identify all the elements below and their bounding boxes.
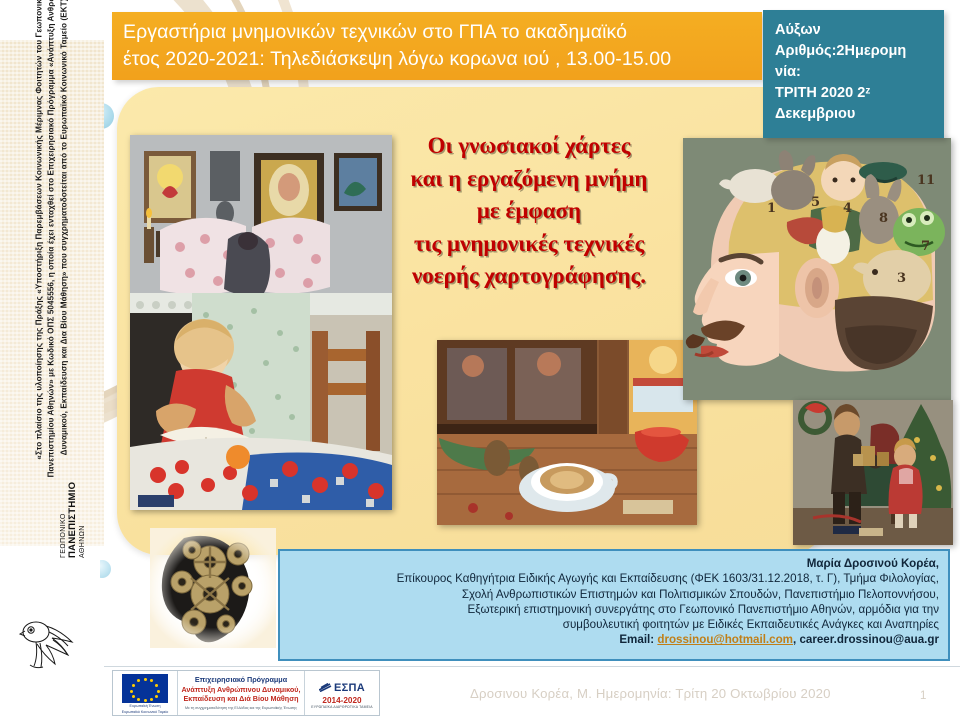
headline-line-5: νοερής χαρτογράφησης. — [364, 260, 694, 293]
date-line-1: Αύξων — [775, 20, 933, 41]
svg-text:1: 1 — [767, 201, 776, 216]
espa-swoosh-icon — [319, 683, 332, 692]
page-number: 1 — [920, 690, 926, 702]
email-secondary: career.drossinou@aua.gr — [799, 633, 939, 646]
eu-caption-line-2: Ευρωπαϊκό Κοινωνικό Ταμείο — [122, 710, 169, 715]
svg-text:11: 11 — [917, 173, 935, 188]
presenter-line-4: Εξωτερική επιστημονική συνεργάτης στο Γε… — [289, 602, 939, 617]
university-logo-words: ΓΕΩΠΟΝΙΚΟ ΠΑΝΕΠΙΣΤΗΜΙΟ ΑΘΗΝΩΝ — [60, 448, 90, 558]
headline-line-3: με έμφαση — [364, 195, 694, 228]
university-name-line2: ΠΑΝΕΠΙΣΤΗΜΙΟ — [68, 448, 79, 558]
svg-text:8: 8 — [879, 211, 888, 226]
espa-years: 2014-2020 — [322, 696, 361, 705]
presenter-line-5: συμβουλευτική φοιτητών με Ειδικές Εκπαιδ… — [289, 617, 939, 632]
eu-flag-cell: Ευρωπαϊκή Ένωση Ευρωπαϊκό Κοινωνικό Ταμε… — [113, 671, 177, 715]
espa-word: ΕΣΠΑ — [334, 682, 365, 694]
email-link-primary[interactable]: drossinou@hotmail.com — [657, 633, 793, 646]
espa-program-text: Επιχειρησιακό Πρόγραμμα Ανάπτυξη Ανθρώπι… — [177, 671, 305, 715]
email-label: Email: — [619, 633, 654, 646]
footer-divider — [104, 666, 960, 667]
image-tea-table — [437, 340, 697, 525]
date-line-2: Αριθμός:2Ημερομη — [775, 41, 933, 62]
footer-text: Δροσινου Κορέα, Μ. Ημερομηνία: Τρίτη 20 … — [470, 686, 831, 701]
title-line-1: Εργαστήρια μνημονικών τεχνικών στο ΓΠΑ τ… — [123, 19, 671, 46]
espa-subtitle: ΕΥΡΩΠΑΪΚΑ ΔΙΑΡΘΡΩΤΙΚΑ ΤΑΜΕΙΑ — [311, 705, 372, 709]
eu-flag-icon — [122, 674, 168, 703]
university-name-line3: ΑΘΗΝΩΝ — [79, 448, 87, 558]
espa-program-line-4: Με τη συγχρηματοδότηση της Ελλάδας και τ… — [185, 706, 297, 711]
image-gears-head — [150, 528, 276, 648]
presenter-line-2: Επίκουρος Καθηγήτρια Ειδικής Αγωγής και … — [289, 571, 939, 586]
headline-line-4: τις μνημονικές τεχνικές — [364, 228, 694, 261]
slide-canvas: «Στο πλαίσιο της υλοποίησης της Πράξης «… — [0, 0, 960, 720]
funding-note-text: «Στο πλαίσιο της υλοποίησης της Πράξης «… — [33, 0, 70, 483]
svg-text:7: 7 — [921, 239, 930, 254]
university-logo: ΓΕΩΠΟΝΙΚΟ ΠΑΝΕΠΙΣΤΗΜΙΟ ΑΘΗΝΩΝ — [14, 548, 100, 680]
espa-program-line-1: Επιχειρησιακό Πρόγραμμα — [195, 675, 287, 685]
headline: Οι γνωσιακοί χάρτες και η εργαζόμενη μνή… — [364, 130, 694, 293]
presenter-info-box: Μαρία Δροσινού Κορέα, Επίκουρος Καθηγήτρ… — [278, 549, 950, 661]
headline-line-2: και η εργαζόμενη μνήμη — [364, 163, 694, 196]
eu-caption-line-1: Ευρωπαϊκή Ένωση — [130, 704, 161, 709]
title-line-2: έτος 2020-2021: Τηλεδιάσκεψη λόγω κορωνα… — [123, 46, 671, 73]
headline-line-1: Οι γνωσιακοί χάρτες — [364, 130, 694, 163]
image-christmas-children — [793, 400, 953, 545]
espa-brand-cell: ΕΣΠΑ 2014-2020 ΕΥΡΩΠΑΪΚΑ ΔΙΑΡΘΡΩΤΙΚΑ ΤΑΜ… — [305, 671, 379, 715]
presenter-line-3: Σχολή Ανθρωπιστικών Επιστημών και Πολιτι… — [289, 587, 939, 602]
svg-text:4: 4 — [843, 201, 852, 216]
image-girl-reading — [130, 135, 392, 510]
title-banner: Εργαστήρια μνημονικών τεχνικών στο ΓΠΑ τ… — [112, 12, 762, 80]
date-line-5: Δεκεμβριου — [775, 104, 933, 125]
date-line-4: ΤΡΙΤΗ 2020 2ᶻ — [775, 83, 933, 104]
date-box: Αύξων Αριθμός:2Ημερομη νία: ΤΡΙΤΗ 2020 2… — [763, 10, 944, 138]
presenter-email-row: Email: drossinou@hotmail.com, career.dro… — [289, 632, 939, 647]
espa-program-line-2: Ανάπτυξη Ανθρώπινου Δυναμικού, — [182, 685, 301, 695]
presenter-name: Μαρία Δροσινού Κορέα, — [289, 556, 939, 571]
espa-program-line-3: Εκπαίδευση και Διά Βίου Μάθηση — [183, 694, 298, 704]
date-line-3: νία: — [775, 62, 933, 83]
svg-text:3: 3 — [897, 271, 906, 286]
espa-logo-strip: Ευρωπαϊκή Ένωση Ευρωπαϊκό Κοινωνικό Ταμε… — [112, 670, 380, 716]
image-head-profile-brain: 1 5 4 11 8 7 3 — [683, 138, 951, 400]
svg-text:5: 5 — [811, 195, 820, 210]
owl-emblem-icon — [16, 610, 90, 676]
